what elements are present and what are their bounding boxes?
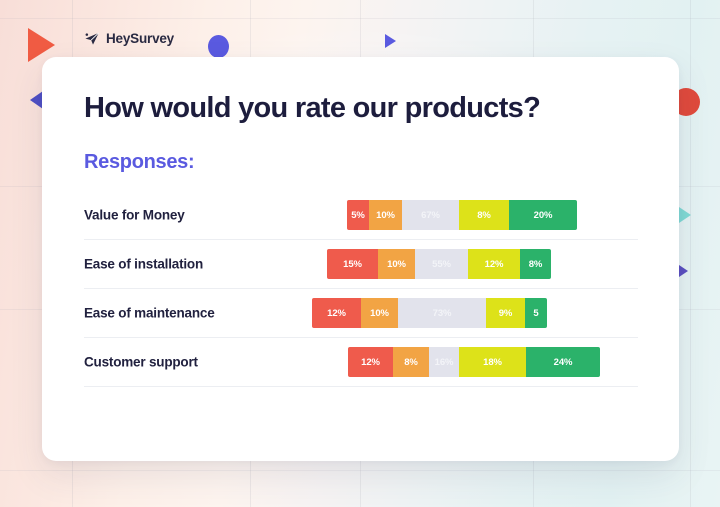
response-row: Customer support12%8%16%18%24% [84,338,638,387]
bar-segment-very-positive[interactable]: 20% [509,200,577,230]
paper-plane-icon [84,31,101,46]
bar-segment-neutral[interactable]: 16% [429,347,459,377]
bar-segment-positive[interactable]: 9% [486,298,525,328]
bar-segment-very-negative[interactable]: 5% [347,200,369,230]
bar-segment-negative[interactable]: 10% [369,200,402,230]
bar-segment-very-negative[interactable]: 15% [327,249,378,279]
bg-grid-line [0,470,720,471]
brand-name: HeySurvey [106,32,174,46]
bar-segment-very-negative[interactable]: 12% [312,298,361,328]
response-row-label: Ease of maintenance [84,306,215,321]
survey-result-card: How would you rate our products? Respons… [42,57,679,461]
bar-segment-very-positive[interactable]: 5 [525,298,547,328]
response-row-label: Ease of installation [84,257,203,272]
triangle-teal-right-icon [679,207,691,223]
page-title: How would you rate our products? [84,92,540,125]
bar-segment-negative[interactable]: 8% [393,347,429,377]
bar-segment-very-positive[interactable]: 8% [520,249,551,279]
screenshot-root: HeySurvey How would you rate our product… [0,0,720,507]
response-row: Ease of installation15%10%55%12%8% [84,240,638,289]
stacked-bar[interactable]: 12%10%73%9%5 [312,298,547,328]
bar-segment-very-negative[interactable]: 12% [348,347,393,377]
response-row: Value for Money5%10%67%8%20% [84,191,638,240]
response-row-label: Customer support [84,355,198,370]
bg-grid-line [0,18,720,19]
circle-indigo-icon [208,35,229,58]
bar-segment-positive[interactable]: 8% [459,200,509,230]
response-row: Ease of maintenance12%10%73%9%5 [84,289,638,338]
responses-heading: Responses: [84,151,194,174]
bar-segment-neutral[interactable]: 55% [415,249,468,279]
bar-segment-positive[interactable]: 12% [468,249,520,279]
stacked-bar[interactable]: 15%10%55%12%8% [327,249,551,279]
response-rows: Value for Money5%10%67%8%20%Ease of inst… [84,191,638,387]
bar-segment-neutral[interactable]: 67% [402,200,459,230]
bg-grid-line [690,0,691,507]
response-row-label: Value for Money [84,208,185,223]
stacked-bar[interactable]: 12%8%16%18%24% [348,347,600,377]
bar-segment-very-positive[interactable]: 24% [526,347,600,377]
stacked-bar[interactable]: 5%10%67%8%20% [347,200,577,230]
bar-segment-negative[interactable]: 10% [378,249,415,279]
brand-logo[interactable]: HeySurvey [84,31,174,46]
triangle-indigo-small-icon [385,34,396,48]
bar-segment-neutral[interactable]: 73% [398,298,486,328]
bar-segment-positive[interactable]: 18% [459,347,526,377]
bar-segment-negative[interactable]: 10% [361,298,398,328]
